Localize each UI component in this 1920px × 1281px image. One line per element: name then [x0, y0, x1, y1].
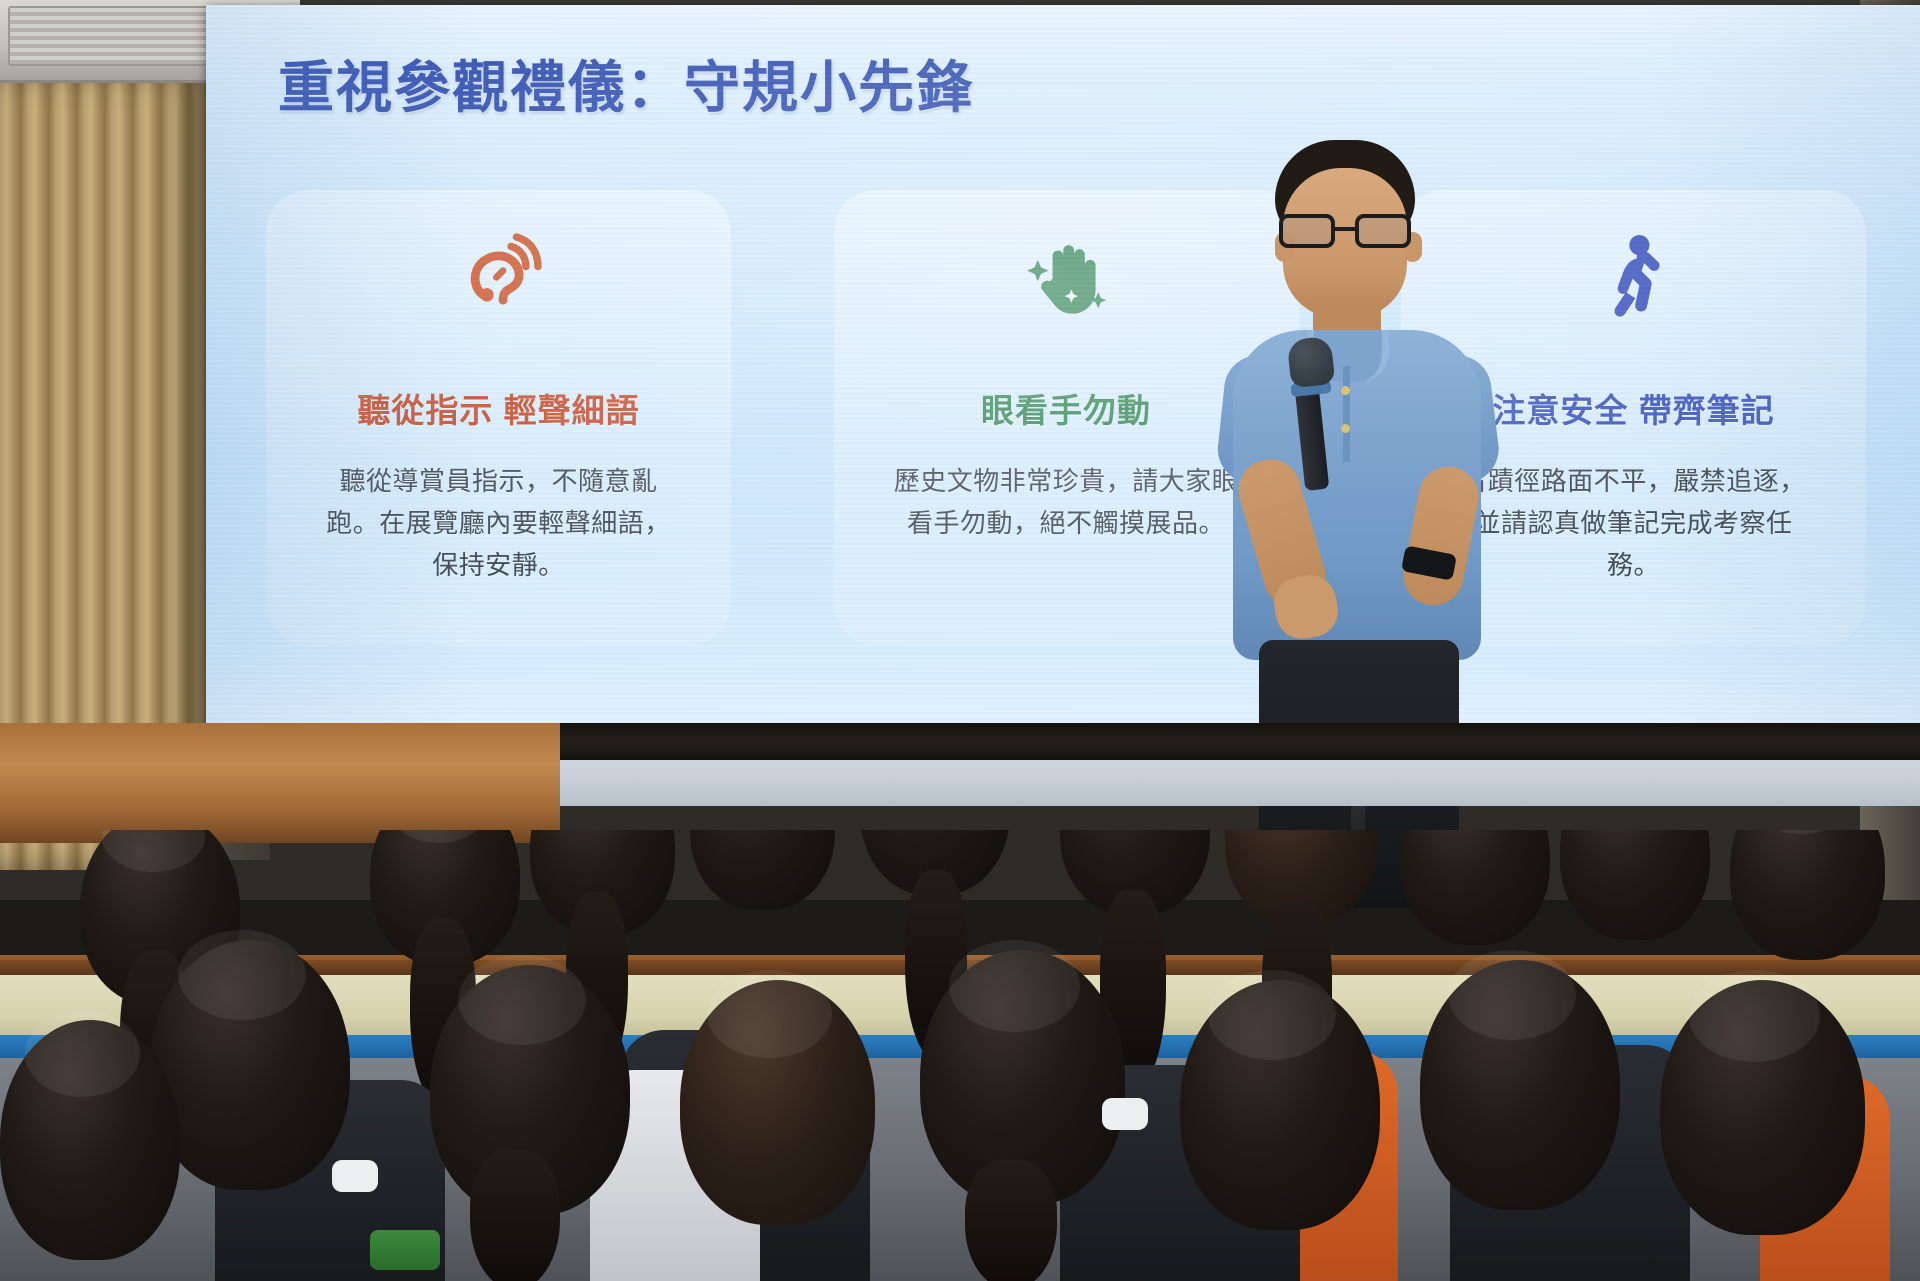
audience-head	[0, 1020, 180, 1260]
projection-screen: 重視參觀禮儀：守規小先鋒 聽從指示 輕聲細語 聽從導賞員指示，不隨意亂跑。在展覽…	[206, 5, 1920, 730]
audience	[0, 830, 1920, 1281]
glasses-lens-right	[1355, 214, 1411, 248]
glasses-icon	[1275, 214, 1415, 248]
card-body: 古蹟徑路面不平，嚴禁追逐，並請認真做筆記完成考察任務。	[1454, 460, 1814, 586]
card-heading: 眼看手勿動	[981, 384, 1151, 432]
slide-title: 重視參觀禮儀：守規小先鋒	[278, 43, 1478, 124]
walking-person-icon	[1588, 230, 1680, 322]
audience-head	[1730, 830, 1885, 960]
audience-ponytail	[470, 1150, 560, 1281]
card-heading: 注意安全 帶齊筆記	[1492, 384, 1774, 432]
presentation-photo-scene: 重視參觀禮儀：守規小先鋒 聽從指示 輕聲細語 聽從導賞員指示，不隨意亂跑。在展覽…	[0, 0, 1920, 1281]
card-body: 聽從導賞員指示，不隨意亂跑。在展覽廳內要輕聲細語，保持安靜。	[319, 460, 679, 586]
audience-ponytail	[965, 1160, 1057, 1281]
clean-hand-sparkle-icon	[1020, 230, 1112, 322]
audience-head	[680, 980, 875, 1225]
audience-head	[1180, 980, 1380, 1230]
audience-head	[1560, 830, 1710, 940]
presenter-placket	[1343, 366, 1350, 462]
audience-head	[150, 940, 350, 1190]
slide-cards-row: 聽從指示 輕聲細語 聽從導賞員指示，不隨意亂跑。在展覽廳內要輕聲細語，保持安靜。…	[266, 190, 1866, 650]
chair-back	[370, 1230, 440, 1270]
glasses-lens-left	[1279, 214, 1335, 248]
audience-head	[1660, 980, 1865, 1235]
stage-floor	[0, 723, 560, 843]
ear-hearing-icon	[453, 230, 545, 322]
shirt-button	[1341, 424, 1350, 433]
face-mask-icon	[332, 1160, 378, 1192]
card-body: 歷史文物非常珍貴，請大家眼看手勿動，絕不觸摸展品。	[886, 460, 1246, 544]
card-heading: 聽從指示 輕聲細語	[357, 384, 639, 432]
glasses-bridge	[1335, 227, 1355, 231]
audience-head	[690, 830, 835, 910]
audience-head	[1420, 960, 1620, 1210]
face-mask-icon	[1102, 1098, 1148, 1130]
slide-card-listen: 聽從指示 輕聲細語 聽從導賞員指示，不隨意亂跑。在展覽廳內要輕聲細語，保持安靜。	[266, 190, 731, 645]
shirt-button	[1341, 386, 1350, 395]
audience-head	[1400, 830, 1550, 945]
